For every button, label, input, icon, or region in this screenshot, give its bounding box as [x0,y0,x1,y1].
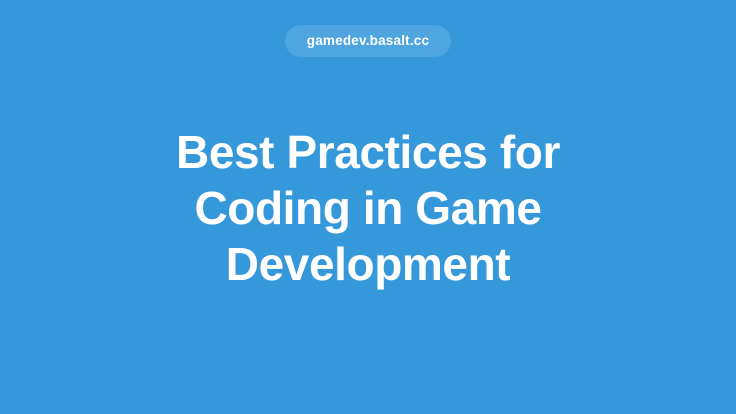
headline-line-1: Best Practices for [176,124,560,180]
headline-line-3: Development [226,236,510,292]
headline-block: Best Practices for Coding in Game Develo… [0,124,736,292]
site-domain-badge-label: gamedev.basalt.cc [307,34,429,48]
headline-line-2: Coding in Game [194,180,541,236]
social-card-poster: gamedev.basalt.cc Best Practices for Cod… [0,0,736,414]
badge-row: gamedev.basalt.cc [0,25,736,57]
site-domain-badge[interactable]: gamedev.basalt.cc [285,25,451,57]
